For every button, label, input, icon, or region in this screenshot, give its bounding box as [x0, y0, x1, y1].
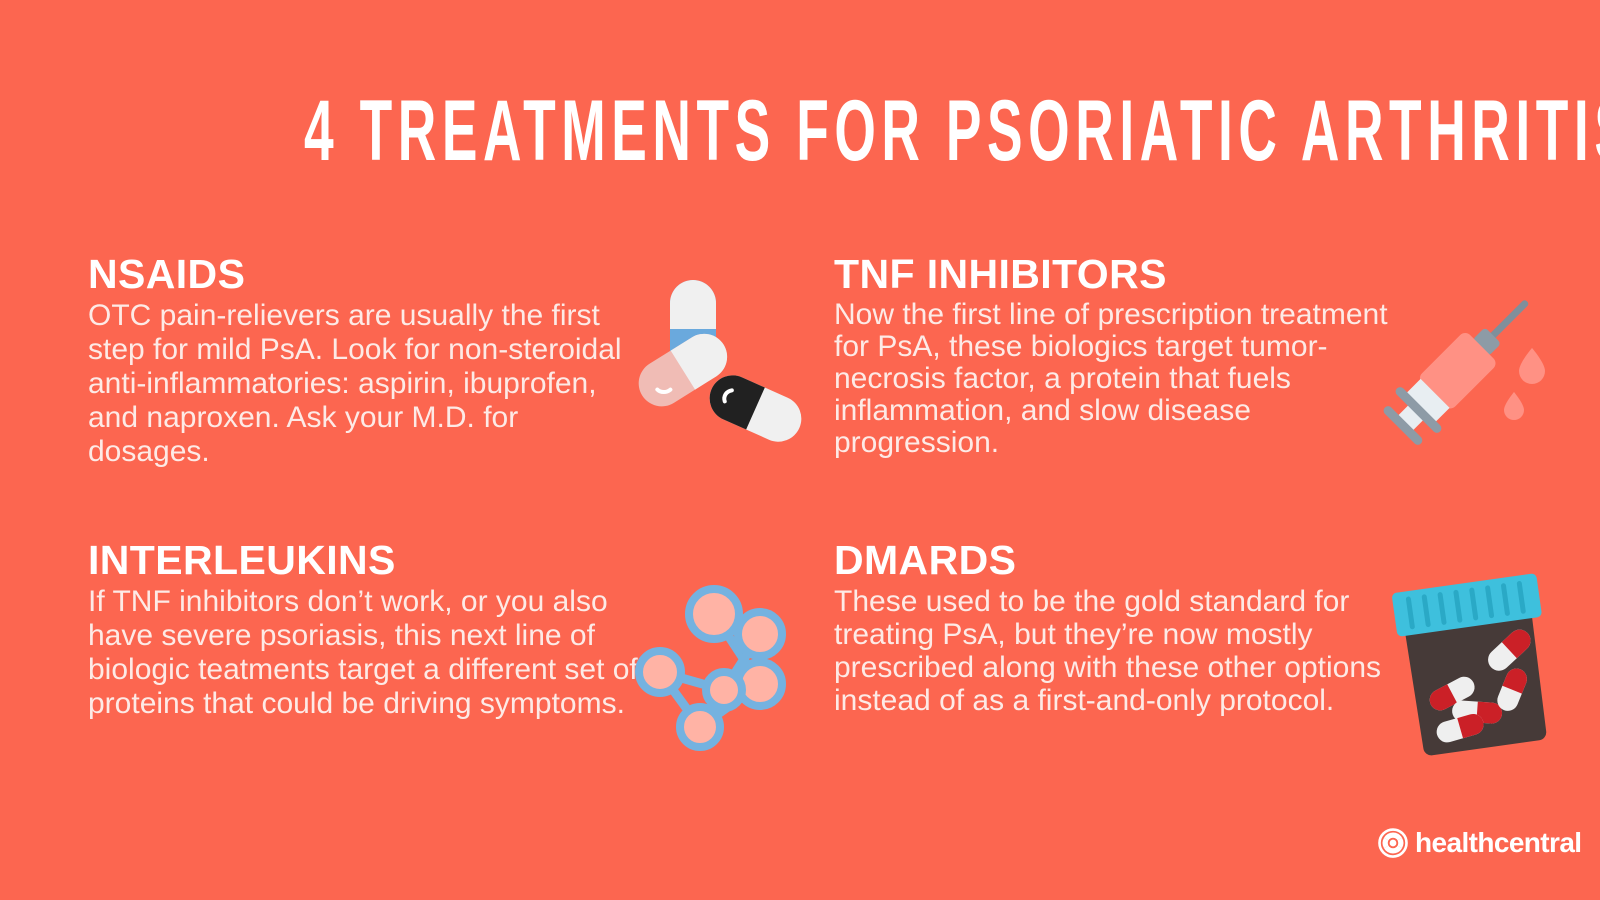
page-title: 4 TREATMENTS FOR PSORIATIC ARTHRITIS [304, 88, 1296, 174]
card-tnf-body: Now the first line of prescription treat… [834, 299, 1394, 459]
pills-icon [620, 276, 800, 456]
card-nsaids-heading: NSAIDS [88, 252, 648, 296]
card-dmards-heading: DMARDS [834, 538, 1414, 582]
infographic-canvas: 4 TREATMENTS FOR PSORIATIC ARTHRITIS NSA… [0, 0, 1600, 900]
healthcentral-logo[interactable]: healthcentral [1378, 828, 1581, 858]
aperture-icon [1378, 828, 1408, 858]
card-interleukins-heading: INTERLEUKINS [88, 538, 648, 582]
molecule-icon [624, 572, 796, 744]
card-tnf: TNF INHIBITORS Now the first line of pre… [834, 252, 1394, 459]
logo-wordmark: healthcentral [1415, 828, 1581, 858]
card-tnf-heading: TNF INHIBITORS [834, 252, 1394, 296]
pill-bottle-icon [1388, 568, 1568, 758]
card-interleukins-body: If TNF inhibitors don’t work, or you als… [88, 585, 648, 721]
syringe-icon [1376, 272, 1560, 456]
card-nsaids: NSAIDS OTC pain-relievers are usually th… [88, 252, 648, 469]
card-dmards: DMARDS These used to be the gold standar… [834, 538, 1414, 717]
card-dmards-body: These used to be the gold standard for t… [834, 585, 1414, 717]
card-nsaids-body: OTC pain-relievers are usually the first… [88, 299, 648, 469]
card-interleukins: INTERLEUKINS If TNF inhibitors don’t wor… [88, 538, 648, 721]
